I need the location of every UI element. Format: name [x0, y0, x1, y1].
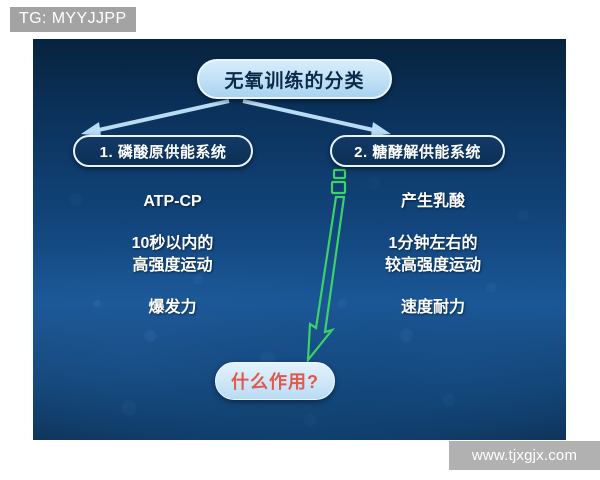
left-heading: ATP-CP: [85, 191, 260, 213]
right-detail-block: 1分钟左右的 较高强度运动: [343, 233, 523, 277]
right-trait-block: 速度耐力: [343, 297, 523, 319]
right-column: 产生乳酸 1分钟左右的 较高强度运动 速度耐力: [343, 191, 523, 319]
left-detail-line-1: 10秒以内的: [85, 233, 260, 255]
green-down-arrow: [308, 170, 345, 360]
left-trait-block: 爆发力: [85, 297, 260, 319]
left-column: ATP-CP 10秒以内的 高强度运动 爆发力: [85, 191, 260, 319]
right-heading: 产生乳酸: [343, 191, 523, 213]
slide-title: 无氧训练的分类: [197, 59, 392, 99]
branch-label-1: 1. 磷酸原供能系统: [73, 135, 253, 167]
left-trait: 爆发力: [85, 297, 260, 319]
question-callout: 什么作用?: [215, 362, 335, 400]
left-detail-block: 10秒以内的 高强度运动: [85, 233, 260, 277]
left-detail-line-2: 高强度运动: [85, 255, 260, 277]
branch-label-2: 2. 糖酵解供能系统: [330, 135, 505, 167]
right-trait: 速度耐力: [343, 297, 523, 319]
connector-arrow-right: [243, 101, 391, 136]
site-watermark: www.tjxgjx.com: [449, 441, 600, 470]
right-detail-line-1: 1分钟左右的: [343, 233, 523, 255]
right-detail-line-2: 较高强度运动: [343, 255, 523, 277]
slide-canvas: 无氧训练的分类 1. 磷酸原供能系统 2. 糖酵解供能系统 ATP-CP 10秒…: [33, 39, 566, 440]
left-heading-block: ATP-CP: [85, 191, 260, 213]
right-heading-block: 产生乳酸: [343, 191, 523, 213]
tg-tag: TG: MYYJJPP: [10, 7, 136, 32]
connector-arrow-left: [81, 101, 229, 136]
